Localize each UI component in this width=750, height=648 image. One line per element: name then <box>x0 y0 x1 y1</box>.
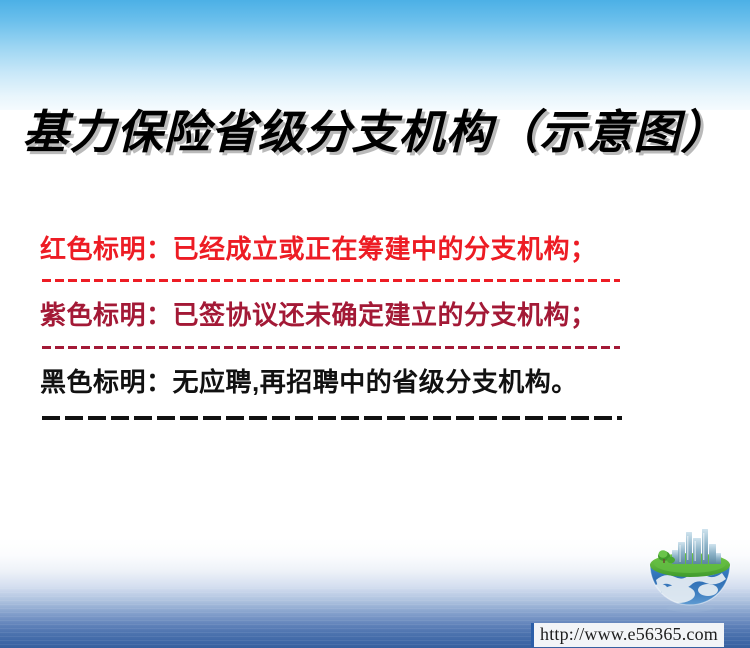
legend-item-purple: 紫色标明：已签协议还未确定建立的分支机构； <box>40 302 710 329</box>
page-title: 基力保险省级分支机构（示意图） <box>0 96 750 162</box>
legend-block: 红色标明：已经成立或正在筹建中的分支机构； 紫色标明：已签协议还未确定建立的分支… <box>40 236 710 420</box>
legend-item-black: 黑色标明：无应聘,再招聘中的省级分支机构。 <box>40 369 710 396</box>
site-url-watermark: http://www.e56365.com <box>531 623 724 647</box>
legend-divider-black <box>42 416 622 420</box>
slide-canvas: 基力保险省级分支机构（示意图） 红色标明：已经成立或正在筹建中的分支机构； 紫色… <box>0 0 750 648</box>
legend-divider-red <box>42 279 620 282</box>
legend-item-red: 红色标明：已经成立或正在筹建中的分支机构； <box>40 236 710 263</box>
legend-divider-purple <box>42 346 620 349</box>
city-skyline-buildings <box>672 529 721 564</box>
globe-city-logo <box>638 520 742 620</box>
